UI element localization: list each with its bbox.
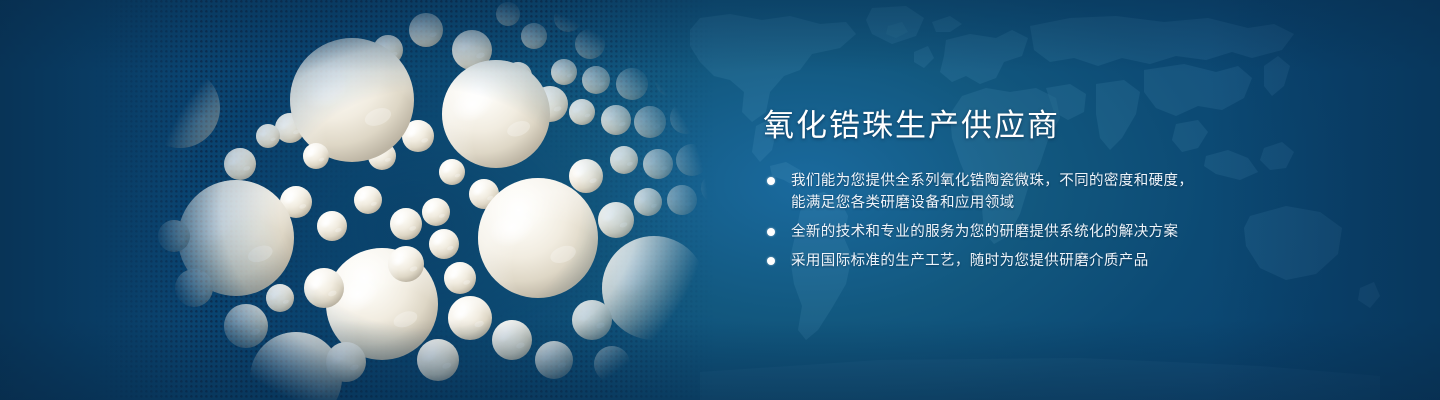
banner-copy: 氧化锆珠生产供应商 我们能为您提供全系列氧化锆陶瓷微珠，不同的密度和硬度， 能满… [763, 106, 1283, 272]
hero-banner: 氧化锆珠生产供应商 我们能为您提供全系列氧化锆陶瓷微珠，不同的密度和硬度， 能满… [0, 0, 1440, 400]
list-item-line-1: 采用国际标准的生产工艺，随时为您提供研磨介质产品 [791, 253, 1149, 269]
bullet-dot-icon [767, 177, 775, 185]
list-item: 采用国际标准的生产工艺，随时为您提供研磨介质产品 [763, 250, 1283, 272]
bullet-dot-icon [767, 228, 775, 236]
list-item-line-2: 能满足您各类研磨设备和应用领域 [791, 192, 1283, 214]
feature-list: 我们能为您提供全系列氧化锆陶瓷微珠，不同的密度和硬度， 能满足您各类研磨设备和应… [763, 170, 1283, 272]
page-title: 氧化锆珠生产供应商 [763, 106, 1283, 146]
bullet-dot-icon [767, 257, 775, 265]
list-item: 我们能为您提供全系列氧化锆陶瓷微珠，不同的密度和硬度， 能满足您各类研磨设备和应… [763, 170, 1283, 214]
list-item-line-1: 我们能为您提供全系列氧化锆陶瓷微珠，不同的密度和硬度， [791, 173, 1193, 189]
list-item-line-1: 全新的技术和专业的服务为您的研磨提供系统化的解决方案 [791, 224, 1178, 240]
list-item: 全新的技术和专业的服务为您的研磨提供系统化的解决方案 [763, 221, 1283, 243]
